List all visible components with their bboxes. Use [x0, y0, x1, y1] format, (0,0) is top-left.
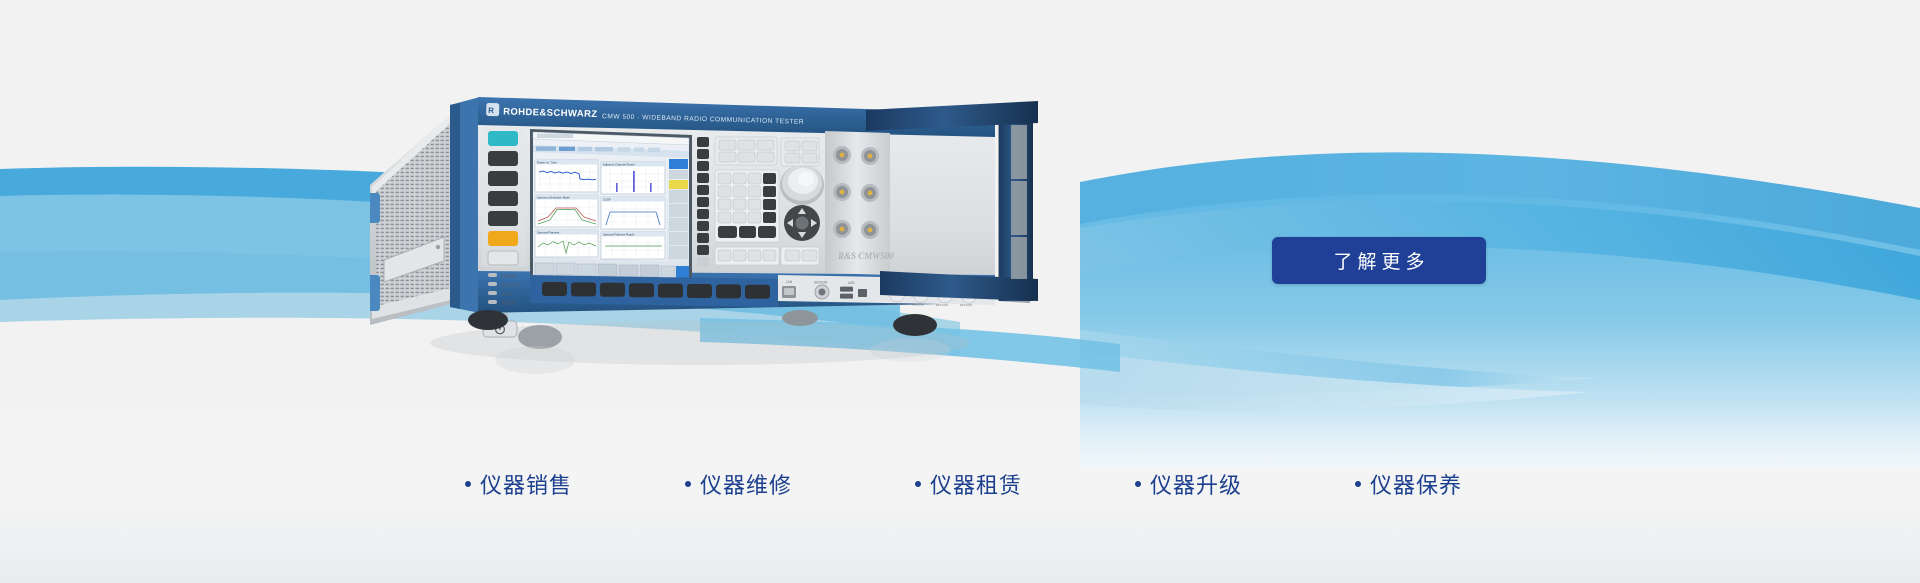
navigation-arrow-pad [784, 205, 820, 241]
screen-panel-spectrum-emission-mask: Spectrum Emission Mask [535, 195, 598, 227]
svg-text:RF1 COM: RF1 COM [888, 302, 900, 306]
screen-panel-power-vs-time: Power vs. Time [535, 160, 598, 192]
svg-text:CCDF: CCDF [603, 198, 611, 202]
rotary-knob [780, 165, 824, 205]
footer-logo-label: R&S CMW500 [837, 251, 894, 261]
bullet-dot-icon [685, 481, 691, 487]
instrument-side-panel [370, 110, 455, 325]
svg-text:BUSY: BUSY [501, 292, 513, 297]
svg-text:Spectral Flatness: Spectral Flatness [537, 231, 560, 235]
screen-panel-spectral-flatness-ripple: Spectral Flatness Ripple [601, 232, 665, 259]
svg-text:ERROR: ERROR [501, 274, 517, 279]
learn-more-button[interactable]: 了解更多 [1272, 237, 1486, 284]
svg-text:READY: READY [501, 301, 516, 306]
service-link-label: 仪器保养 [1370, 468, 1462, 500]
bullet-dot-icon [465, 481, 471, 487]
svg-text:RF4 COM: RF4 COM [960, 303, 972, 307]
instrument-photo: R ROHDE&SCHWARZ CMW 500 · WIDEBAND RADIO… [370, 75, 1110, 405]
bullet-dot-icon [915, 481, 921, 487]
svg-text:Spectral Flatness Ripple: Spectral Flatness Ripple [603, 233, 635, 237]
screen-panel-adjacent-channel-power: Adjacent Channel Power [601, 162, 665, 194]
instrument-rf-panel: R&S CMW500 [825, 131, 894, 275]
svg-text:RF2 COM: RF2 COM [912, 302, 924, 306]
svg-text:USB: USB [848, 281, 855, 285]
service-link-upgrade[interactable]: 仪器升级 [1135, 468, 1242, 500]
svg-text:RF3 COM: RF3 COM [936, 303, 948, 307]
instrument-keypad [697, 137, 824, 267]
svg-text:Power vs. Time: Power vs. Time [537, 161, 557, 165]
svg-text:R: R [488, 106, 494, 115]
svg-text:SENSOR: SENSOR [814, 281, 828, 285]
service-links: 仪器销售 仪器维修 仪器租赁 仪器升级 仪器保养 [0, 468, 1920, 508]
service-link-repair[interactable]: 仪器维修 [685, 468, 792, 500]
service-link-maintenance[interactable]: 仪器保养 [1355, 468, 1462, 500]
screen-panel-ccdf: CCDF [601, 197, 665, 229]
instrument-bottom-keys [530, 275, 778, 307]
keypad-numeric-block [715, 170, 779, 242]
svg-text:Spectrum Emission Mask: Spectrum Emission Mask [537, 196, 570, 200]
screen-softkeys-right [669, 159, 688, 259]
bullet-dot-icon [1135, 481, 1141, 487]
service-link-label: 仪器销售 [480, 468, 572, 500]
keypad-utility-block [715, 247, 819, 265]
bullet-dot-icon [1355, 481, 1361, 487]
hero-banner: R ROHDE&SCHWARZ CMW 500 · WIDEBAND RADIO… [0, 0, 1920, 583]
screen-panel-spectral-flatness: Spectral Flatness [535, 230, 598, 257]
service-link-label: 仪器维修 [700, 468, 792, 500]
screen-bezel-keys [697, 137, 709, 267]
service-link-label: 仪器升级 [1150, 468, 1242, 500]
service-link-rental[interactable]: 仪器租赁 [915, 468, 1022, 500]
service-link-label: 仪器租赁 [930, 468, 1022, 500]
svg-text:Adjacent Channel Power: Adjacent Channel Power [603, 163, 635, 167]
service-link-sales[interactable]: 仪器销售 [465, 468, 572, 500]
svg-text:REMOTE: REMOTE [501, 283, 520, 288]
svg-text:LAN: LAN [786, 280, 793, 284]
rs-logo-icon: R [486, 103, 499, 116]
keypad-function-block [715, 137, 819, 166]
instrument-screen: Power vs. Time Adjacent Channel Power [530, 129, 692, 285]
